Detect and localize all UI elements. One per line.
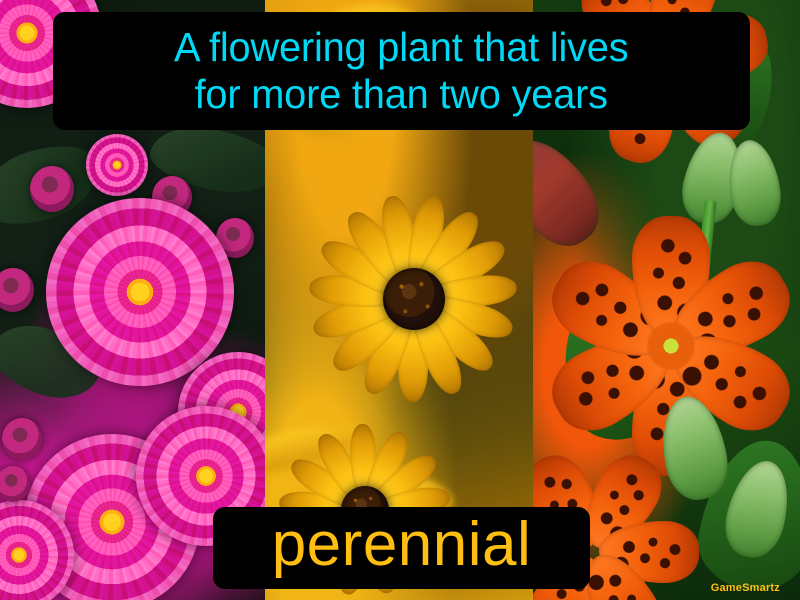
flower-center [383,268,445,330]
term-banner: perennial [213,507,590,589]
definition-text: A flowering plant that lives for more th… [167,24,637,117]
watermark-logo: GameSmartz [711,582,780,594]
flower-bud-shape [2,418,42,460]
flower-shape [86,134,148,196]
term-text: perennial [272,514,532,582]
flower-center [647,322,695,370]
flower-bud-shape [0,268,34,312]
flower-shape [46,198,234,386]
definition-card: A flowering plant that lives for more th… [0,0,800,600]
flower-bud-shape [0,466,30,502]
definition-banner: A flowering plant that lives for more th… [53,12,750,130]
flower-bud-shape [30,166,74,212]
flower-bud-shape [533,124,613,259]
